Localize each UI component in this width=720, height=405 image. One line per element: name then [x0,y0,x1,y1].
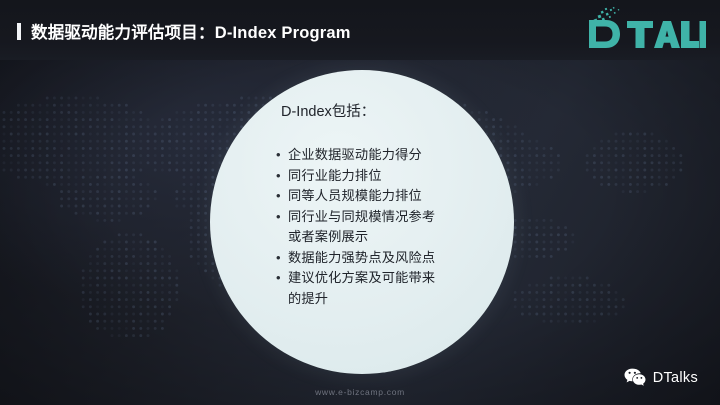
wechat-account[interactable]: DTalks [624,368,698,387]
wechat-label: DTalks [653,370,698,386]
header-bar: 数据驱动能力评估项目：D-Index Program [0,0,720,60]
circle-heading: D-Index包括： [281,100,375,121]
page-title: 数据驱动能力评估项目：D-Index Program [31,19,351,43]
list-item-label: 同行业与同规模情况参考 [288,207,435,228]
list-item-label: 企业数据驱动能力得分 [288,145,422,166]
feature-list: •企业数据驱动能力得分•同行业能力排位•同等人员规模能力排位•同行业与同规模情况… [276,145,516,309]
list-item-label-continuation: 的提升 [288,289,435,310]
circle-content: D-Index包括： •企业数据驱动能力得分•同行业能力排位•同等人员规模能力排… [210,70,514,374]
list-item: •同等人员规模能力排位 [276,186,516,207]
list-item-label: 同等人员规模能力排位 [288,186,422,207]
dtalk-logo[interactable] [586,6,706,52]
list-item: •建议优化方案及可能带来的提升 [276,268,516,309]
list-item-label: 同行业能力排位 [288,166,382,187]
bullet-marker: • [276,248,288,269]
footer-url: www.e-bizcamp.com [0,387,720,397]
list-item: •企业数据驱动能力得分 [276,145,516,166]
list-item: •同行业与同规模情况参考或者案例展示 [276,207,516,248]
slide-canvas: 数据驱动能力评估项目：D-Index Program [0,0,720,405]
wechat-icon [624,368,646,387]
bullet-marker: • [276,145,288,166]
title-accent-bar [17,23,21,40]
bullet-marker: • [276,268,288,289]
list-item: •数据能力强势点及风险点 [276,248,516,269]
list-item-label-continuation: 或者案例展示 [288,227,435,248]
list-item: •同行业能力排位 [276,166,516,187]
list-item-label: 数据能力强势点及风险点 [288,248,435,269]
bullet-marker: • [276,166,288,187]
list-item-label: 建议优化方案及可能带来 [288,268,435,289]
dtalk-wordmark [586,17,706,51]
bullet-marker: • [276,186,288,207]
bullet-marker: • [276,207,288,228]
